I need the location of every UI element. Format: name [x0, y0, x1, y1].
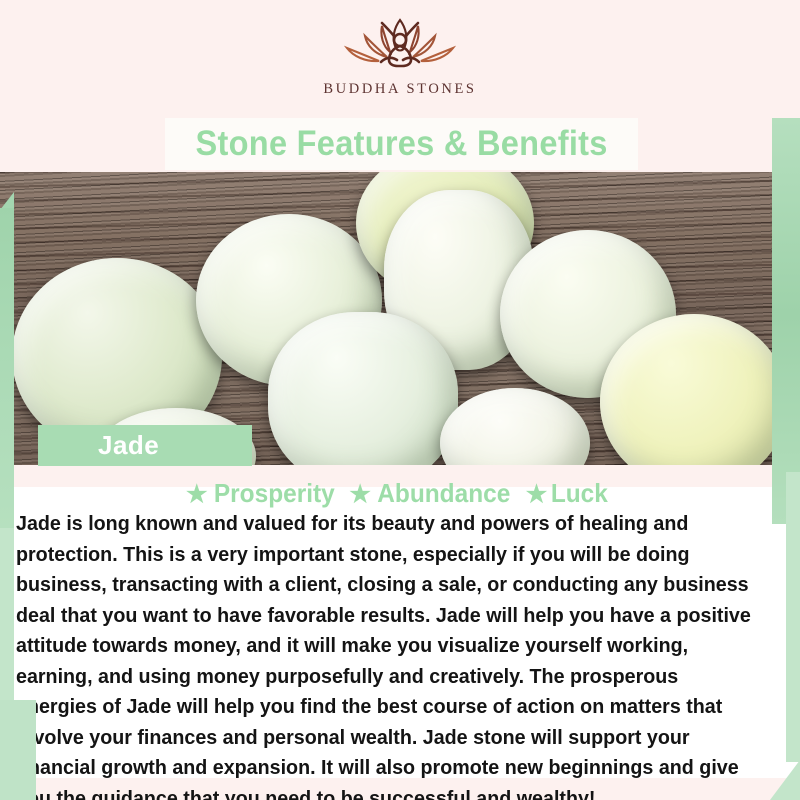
stone-info-card: BUDDHA STONES Stone Features & Benefits … [0, 0, 800, 800]
keyword-luck: Luck [551, 478, 608, 509]
stone-name-band: Jade [38, 425, 252, 466]
description-text: Jade is long known and valued for its be… [16, 509, 763, 800]
accent-left-strip [0, 208, 14, 528]
accent-bottom-left-block [0, 700, 36, 800]
brand-header: BUDDHA STONES [0, 0, 800, 118]
brand-name: BUDDHA STONES [323, 81, 476, 98]
keyword-list: ★Prosperity ★Abundance ★Luck [0, 478, 800, 509]
star-icon-2: ★ [349, 481, 371, 508]
stone-photo [0, 172, 800, 465]
accent-right-strip [772, 104, 800, 524]
accent-right-lower-strip [786, 472, 800, 762]
star-icon-3: ★ [526, 481, 548, 508]
keyword-prosperity: Prosperity [213, 478, 334, 509]
stone-name: Jade [38, 430, 159, 461]
title-banner: Stone Features & Benefits [165, 118, 638, 170]
accent-bottom-right-triangle [770, 760, 800, 800]
keyword-abundance: Abundance [377, 478, 510, 509]
page-title: Stone Features & Benefits [195, 124, 607, 164]
star-icon-1: ★ [186, 481, 208, 508]
description-section: ★Prosperity ★Abundance ★Luck Jade is lon… [0, 465, 800, 800]
lotus-meditation-icon [335, 14, 465, 76]
stone-5 [268, 312, 458, 465]
accent-left-lower-strip [0, 528, 14, 703]
